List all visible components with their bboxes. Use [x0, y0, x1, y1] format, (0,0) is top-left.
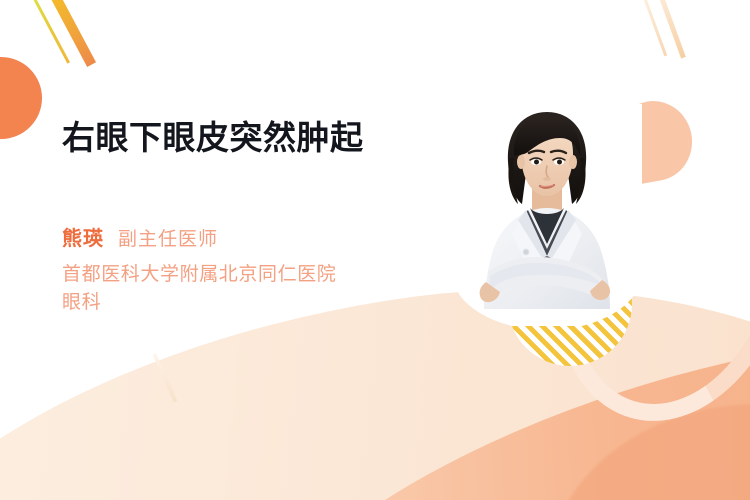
- doctor-identity: 熊瑛 副主任医师: [62, 222, 412, 251]
- page-title: 右眼下眼皮突然肿起: [62, 118, 412, 158]
- hospital-name: 首都医科大学附属北京同仁医院: [62, 261, 392, 289]
- ribbon-stripe-icon: [153, 353, 178, 402]
- ribbon-stripe-icon: [44, 0, 96, 67]
- doctor-professional-title: 副主任医师: [118, 224, 218, 251]
- doctor-affiliation: 首都医科大学附属北京同仁医院 眼科: [62, 261, 392, 316]
- doctor-photo: [452, 104, 642, 326]
- salmon-wave-shadow: [548, 404, 750, 500]
- card-text-block: 右眼下眼皮突然肿起 熊瑛 副主任医师 首都医科大学附属北京同仁医院 眼科: [62, 118, 412, 316]
- department-name: 眼科: [62, 289, 392, 317]
- doctor-portrait-illustration: [452, 104, 642, 326]
- ribbon-stripe-icon: [27, 0, 70, 64]
- ribbon-stripe-icon: [640, 0, 667, 56]
- doctor-name: 熊瑛: [62, 222, 104, 251]
- doctor-profile-card: 右眼下眼皮突然肿起 熊瑛 副主任医师 首都医科大学附属北京同仁医院 眼科: [0, 0, 750, 500]
- orange-circle-icon: [0, 57, 42, 139]
- ribbon-stripe-icon: [655, 0, 686, 59]
